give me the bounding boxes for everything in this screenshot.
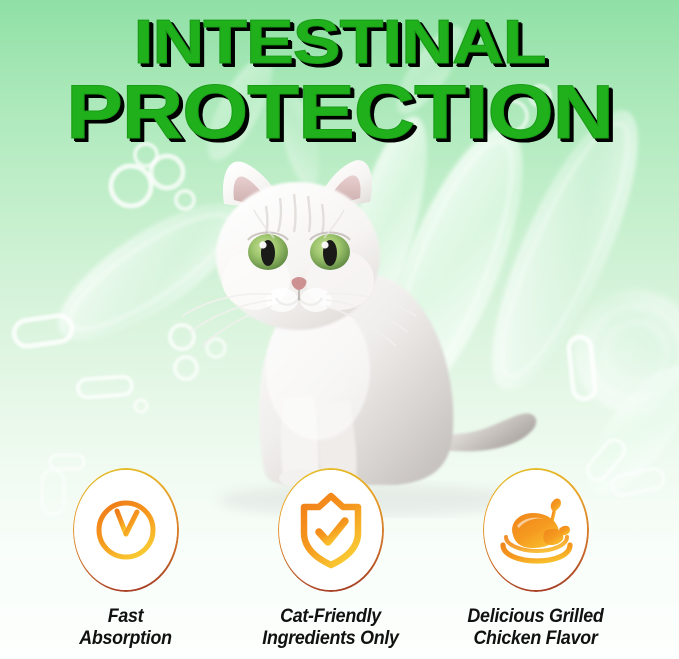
cat-eye-highlight-left <box>259 241 266 248</box>
feature-item-fast-absorption[interactable]: Fast Absorption <box>23 468 228 651</box>
feature-item-chicken-flavor[interactable]: Delicious Grilled Chicken Flavor <box>433 468 638 651</box>
clock-icon <box>73 468 179 592</box>
cat-illustration <box>168 140 548 518</box>
feature-label-cat-friendly: Cat-Friendly Ingredients Only <box>234 606 427 651</box>
shield-check-icon <box>278 468 384 592</box>
cat-hero-image <box>168 140 548 518</box>
badge-circle-chicken[interactable] <box>483 468 589 592</box>
cat-eye-highlight-right <box>321 241 328 248</box>
roast-chicken-icon <box>483 468 589 592</box>
feature-label-fast-absorption: Fast Absorption <box>29 606 222 651</box>
feature-badges: Fast Absorption <box>0 468 679 659</box>
feature-label-chicken-flavor: Delicious Grilled Chicken Flavor <box>439 606 632 651</box>
badge-circle-shield[interactable] <box>278 468 384 592</box>
feature-item-cat-friendly[interactable]: Cat-Friendly Ingredients Only <box>228 468 433 651</box>
badge-circle-clock[interactable] <box>73 468 179 592</box>
advertisement-banner: INTESTINAL PROTECTION <box>0 0 679 659</box>
